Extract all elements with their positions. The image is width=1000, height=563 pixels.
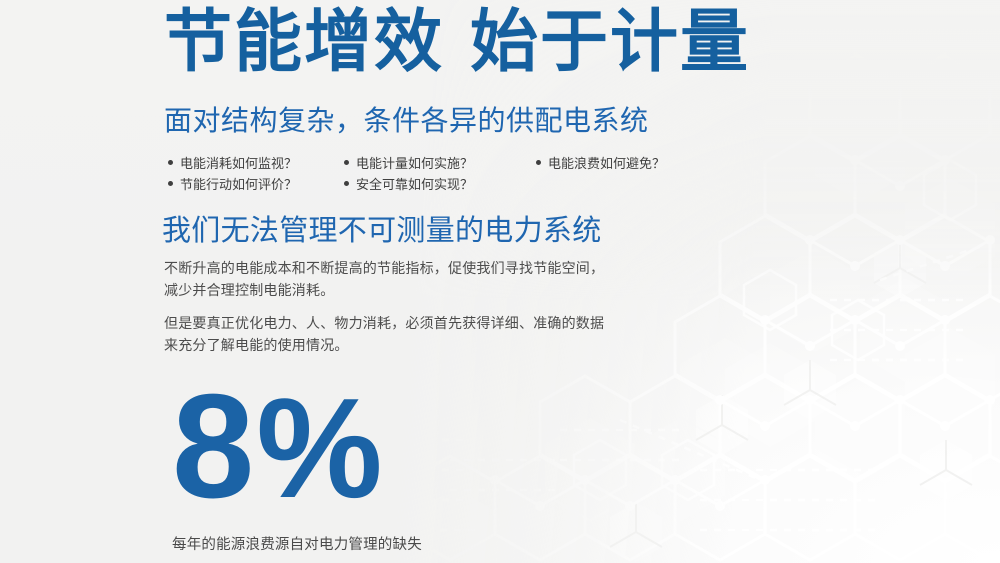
body-paragraph-1: 不断升高的电能成本和不断提高的节能指标，促使我们寻找节能空间， 减少并合理控制电… xyxy=(164,257,604,301)
body-paragraph-2: 但是要真正优化电力、人、物力消耗，必须首先获得详细、准确的数据 来充分了解电能的… xyxy=(164,312,604,356)
list-item-label: 电能计量如何实施？ xyxy=(356,153,473,172)
list-item-label: 节能行动如何评价？ xyxy=(180,174,297,193)
bullet-row: 电能消耗如何监视？ 电能计量如何实施？ 电能浪费如何避免？ xyxy=(168,152,728,173)
section-heading: 我们无法管理不可测量的电力系统 xyxy=(162,207,602,249)
list-item-label: 安全可靠如何实现？ xyxy=(356,174,473,193)
subtitle: 面对结构复杂，条件各异的供配电系统 xyxy=(164,99,649,139)
list-item: 电能消耗如何监视？ xyxy=(168,153,344,172)
statistic-unit: % xyxy=(256,369,380,528)
paragraph-line: 不断升高的电能成本和不断提高的节能指标，促使我们寻找节能空间， xyxy=(164,257,604,279)
bullet-dot-icon xyxy=(168,160,173,165)
question-bullet-list: 电能消耗如何监视？ 电能计量如何实施？ 电能浪费如何避免？ 节能行动如何评价？ xyxy=(168,152,728,194)
bullet-dot-icon xyxy=(344,181,349,186)
list-item: 电能浪费如何避免？ xyxy=(536,153,728,172)
list-item-label: 电能浪费如何避免？ xyxy=(548,153,665,172)
list-item: 电能计量如何实施？ xyxy=(344,153,536,172)
paragraph-line: 减少并合理控制电能消耗。 xyxy=(164,279,604,301)
statistic-caption: 每年的能源浪费源自对电力管理的缺失 xyxy=(172,533,422,554)
page-title: 节能增效始于计量 xyxy=(164,4,750,80)
statistic-value: 8% xyxy=(172,373,381,521)
slide-content: 节能增效始于计量 面对结构复杂，条件各异的供配电系统 电能消耗如何监视？ 电能计… xyxy=(0,0,1000,563)
bullet-dot-icon xyxy=(344,160,349,165)
paragraph-line: 来充分了解电能的使用情况。 xyxy=(164,334,604,356)
page-title-part2: 始于计量 xyxy=(470,4,750,80)
paragraph-line: 但是要真正优化电力、人、物力消耗，必须首先获得详细、准确的数据 xyxy=(164,312,604,334)
slide-canvas: 节能增效始于计量 面对结构复杂，条件各异的供配电系统 电能消耗如何监视？ 电能计… xyxy=(0,0,1000,563)
list-item: 安全可靠如何实现？ xyxy=(344,174,536,193)
list-item: 节能行动如何评价？ xyxy=(168,174,344,193)
page-title-part1: 节能增效 xyxy=(164,4,444,80)
statistic-number: 8 xyxy=(172,364,252,529)
bullet-row: 节能行动如何评价？ 安全可靠如何实现？ xyxy=(168,173,728,194)
bullet-dot-icon xyxy=(536,160,541,165)
bullet-dot-icon xyxy=(168,181,173,186)
list-item-label: 电能消耗如何监视？ xyxy=(180,153,297,172)
